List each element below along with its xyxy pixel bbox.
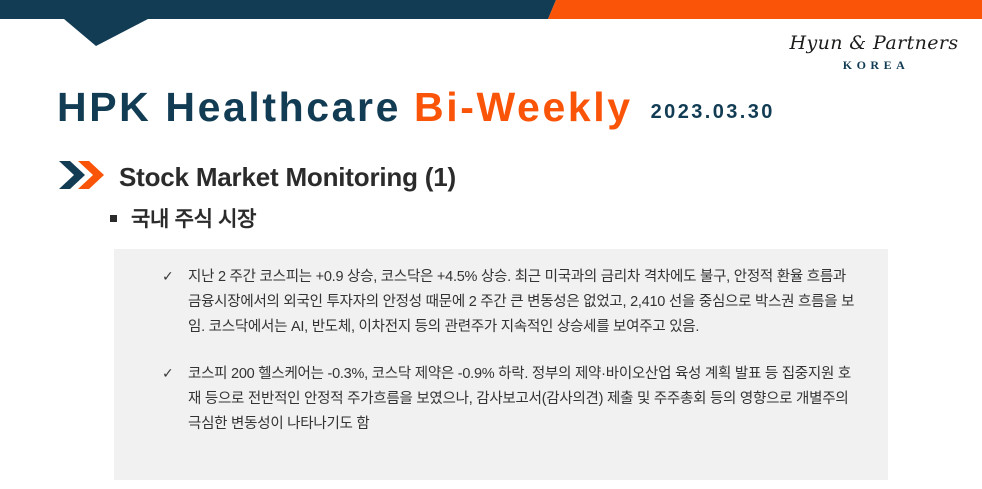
page-title-date: 2023.03.30 <box>651 101 775 124</box>
slide-root: Hyun & Partners KOREA HPK Healthcare Bi-… <box>0 0 982 489</box>
list-item: ✓ 코스피 200 헬스케어는 -0.3%, 코스닥 제약은 -0.9% 하락.… <box>162 362 858 437</box>
check-icon: ✓ <box>162 362 188 387</box>
double-chevron-icon <box>58 160 107 195</box>
page-title-accent: Bi-Weekly <box>414 84 633 131</box>
page-title: HPK Healthcare Bi-Weekly 2023.03.30 <box>57 84 775 131</box>
section-heading-label: Stock Market Monitoring (1) <box>119 162 456 193</box>
sub-heading-label: 국내 주식 시장 <box>131 203 256 233</box>
list-item-text: 코스피 200 헬스케어는 -0.3%, 코스닥 제약은 -0.9% 하락. 정… <box>188 362 858 437</box>
brand-script-name: Hyun & Partners <box>774 34 974 54</box>
banner-orange-shape <box>548 0 982 19</box>
banner-navy-shape <box>0 0 556 46</box>
check-icon: ✓ <box>162 265 188 290</box>
brand-logo: Hyun & Partners KOREA <box>774 34 974 73</box>
square-bullet-icon <box>110 215 117 222</box>
section-heading: Stock Market Monitoring (1) <box>58 160 456 195</box>
page-title-main: HPK Healthcare <box>57 84 401 131</box>
list-item: ✓ 지난 2 주간 코스피는 +0.9 상승, 코스닥은 +4.5% 상승. 최… <box>162 265 858 340</box>
sub-heading: 국내 주식 시장 <box>110 203 256 233</box>
content-panel: ✓ 지난 2 주간 코스피는 +0.9 상승, 코스닥은 +4.5% 상승. 최… <box>114 249 888 480</box>
brand-subtitle: KOREA <box>774 58 974 73</box>
list-item-text: 지난 2 주간 코스피는 +0.9 상승, 코스닥은 +4.5% 상승. 최근 … <box>188 265 858 340</box>
bullet-list: ✓ 지난 2 주간 코스피는 +0.9 상승, 코스닥은 +4.5% 상승. 최… <box>114 249 888 437</box>
